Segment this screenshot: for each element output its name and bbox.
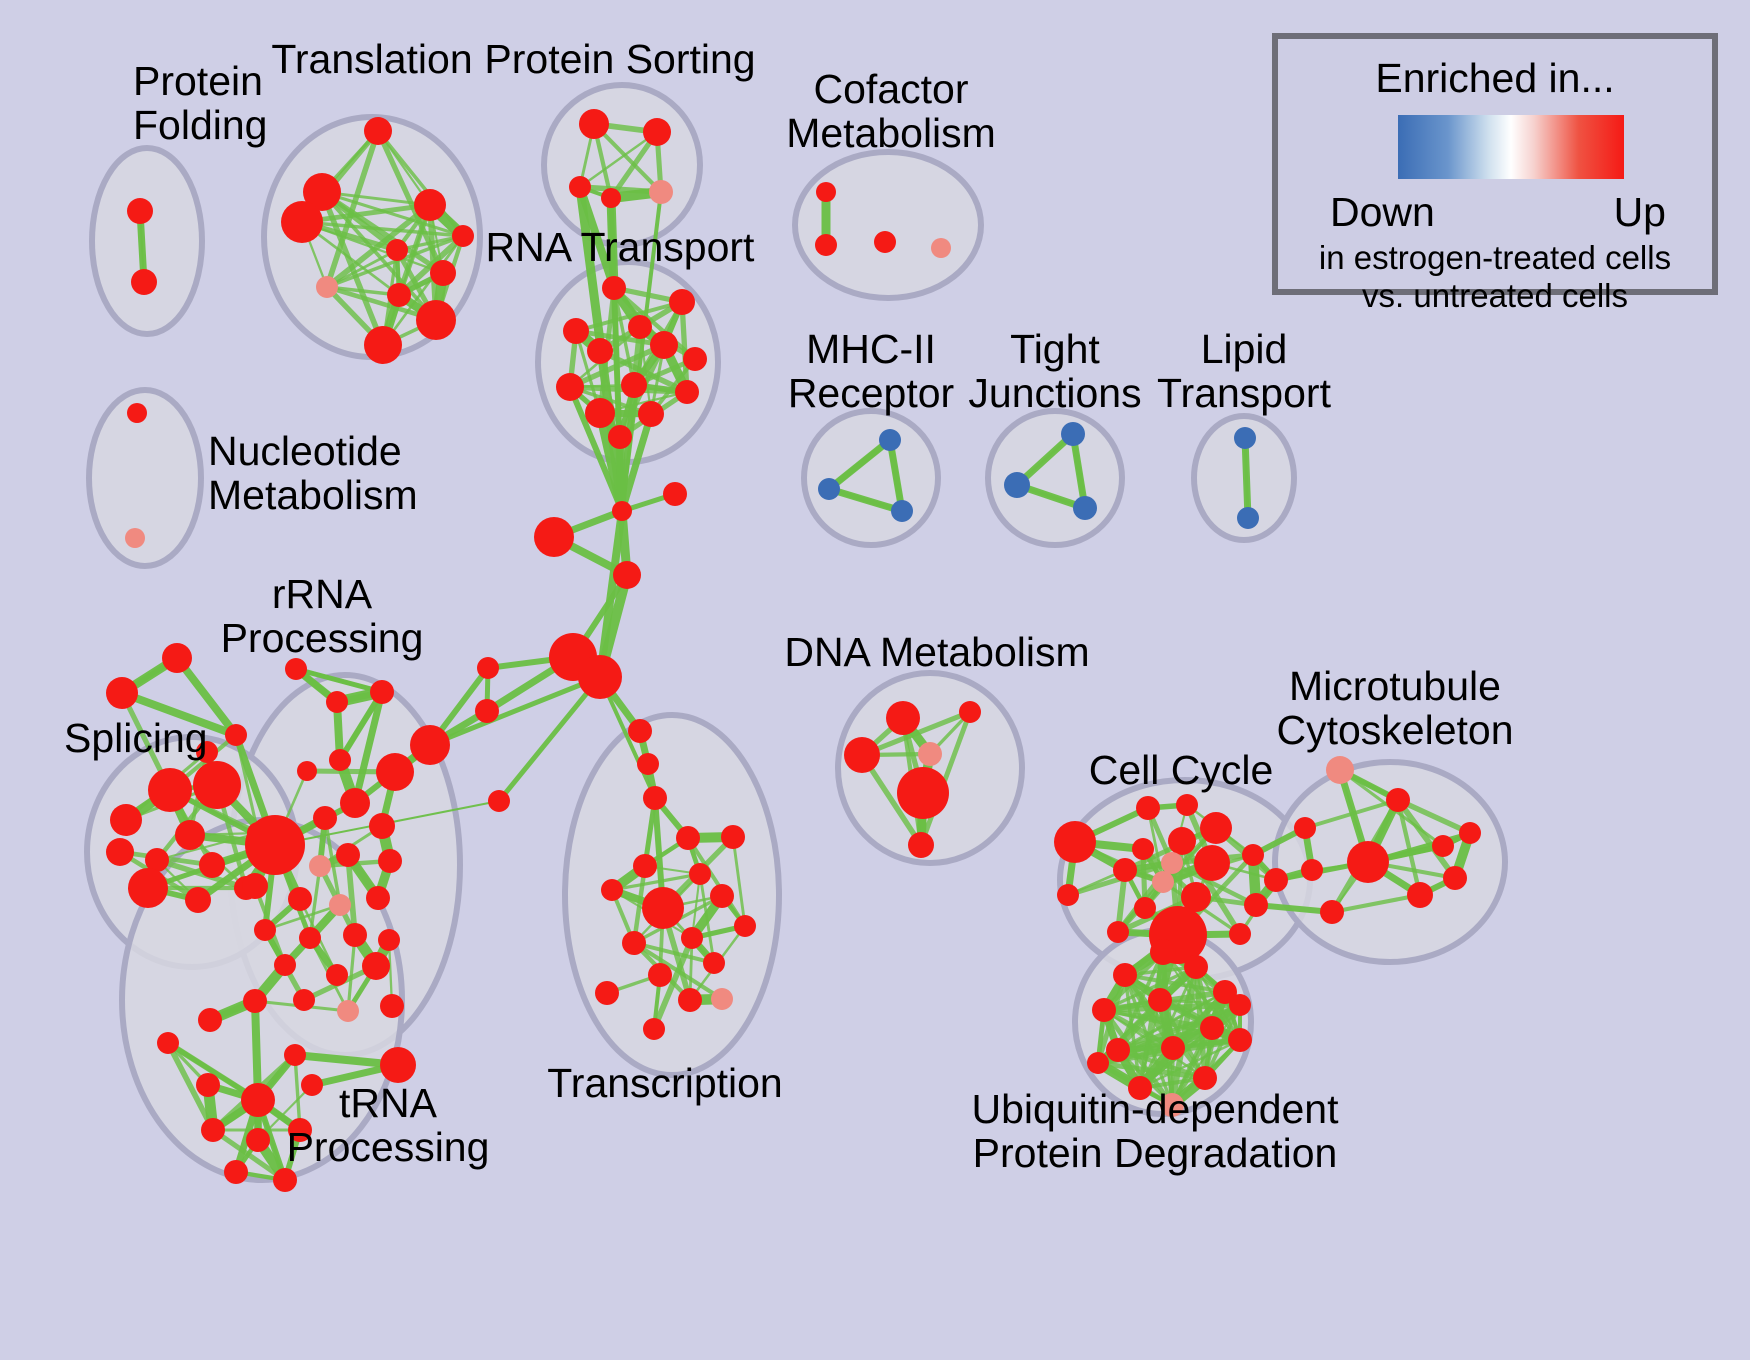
network-node [288,887,312,911]
network-node [273,1168,297,1192]
network-node [1150,939,1176,965]
network-node [1168,827,1196,855]
network-node [1113,963,1137,987]
network-node [343,923,367,947]
network-node [891,500,913,522]
network-node [193,761,241,809]
network-node [1134,897,1156,919]
network-figure: Protein FoldingTranslationProtein Sortin… [0,0,1750,1360]
network-node [1242,844,1264,866]
network-node [162,643,192,673]
network-node [1228,1028,1252,1052]
network-node [245,815,305,875]
network-node [225,724,247,746]
cluster-hull-mhc-ii-receptor [804,411,938,545]
network-node [734,915,756,937]
network-node [1301,859,1323,881]
network-node [364,326,402,364]
network-node [246,1128,270,1152]
network-node [1347,841,1389,883]
network-node [1161,852,1183,874]
network-node [1244,893,1268,917]
network-node [241,1083,275,1117]
network-node [602,276,626,300]
network-node [1386,788,1410,812]
network-node [1184,955,1208,979]
network-node [678,988,702,1012]
cluster-label-lipid-transport: Lipid Transport [1157,328,1331,416]
network-node [1087,1052,1109,1074]
network-node [148,768,192,812]
network-node [127,403,147,423]
network-node [131,269,157,295]
network-node [106,838,134,866]
network-node [569,176,591,198]
network-node [293,989,315,1011]
network-node [879,429,901,451]
network-node [886,701,920,735]
cluster-label-nucleotide-metabolism: Nucleotide Metabolism [208,430,418,518]
network-node [675,380,699,404]
legend-caption-line1: in estrogen-treated cells [1278,239,1712,277]
legend-caption-line2: vs. untreated cells [1278,277,1712,315]
network-node [556,373,584,401]
network-node [1106,1038,1130,1062]
network-node [380,994,404,1018]
network-node [378,929,400,951]
network-node [1073,496,1097,520]
network-node [628,315,652,339]
network-node [199,852,225,878]
network-node [683,347,707,371]
network-node [285,658,307,680]
network-node [721,825,745,849]
network-node [1407,882,1433,908]
network-node [336,843,360,867]
network-node [1264,868,1288,892]
network-node [329,894,351,916]
network-node [337,1000,359,1022]
network-node [488,790,510,812]
network-node [110,804,142,836]
network-node [1061,422,1085,446]
legend-high-label: Up [1614,189,1666,236]
network-node [380,1047,416,1083]
network-node [242,873,268,899]
network-node [316,276,338,298]
network-node [326,691,348,713]
network-node [313,806,337,830]
cluster-label-microtubule-cytoskeleton: Microtubule Cytoskeleton [1276,665,1513,753]
network-node [201,1118,225,1142]
network-node [587,338,613,364]
network-node [410,725,450,765]
network-node [378,849,402,873]
network-node [643,786,667,810]
network-node [326,964,348,986]
network-node [1459,822,1481,844]
network-node [595,981,619,1005]
network-node [1161,1036,1185,1060]
network-node [1294,817,1316,839]
network-node [1004,472,1030,498]
network-node [534,517,574,557]
network-node [370,680,394,704]
cluster-label-rna-transport: RNA Transport [486,226,755,270]
network-node [669,289,695,315]
network-node [637,753,659,775]
network-node [1113,858,1137,882]
network-node [376,753,414,791]
network-node [643,1018,665,1040]
network-node [638,401,664,427]
network-node [1092,998,1116,1022]
network-node [274,954,296,976]
network-node [362,952,390,980]
network-node [196,1073,220,1097]
network-node [1132,838,1154,860]
network-node [297,761,317,781]
network-node [601,879,623,901]
network-node [689,863,711,885]
network-node [299,927,321,949]
cluster-label-cell-cycle: Cell Cycle [1089,749,1274,793]
network-node [1237,507,1259,529]
network-node [931,238,951,258]
network-node [281,201,323,243]
network-node [676,826,700,850]
network-node [649,180,673,204]
network-node [844,737,880,773]
cluster-label-transcription: Transcription [547,1062,782,1106]
network-node [818,478,840,500]
network-node [1200,812,1232,844]
cluster-label-rrna-processing: rRNA Processing [221,573,424,661]
network-node [243,989,267,1013]
network-node [703,952,725,974]
network-node [585,398,615,428]
network-node [612,501,632,521]
cluster-hull-protein-sorting [544,85,700,245]
network-node [643,118,671,146]
network-node [198,1008,222,1032]
network-node [816,182,836,202]
network-node [1234,427,1256,449]
network-node [452,225,474,247]
network-node [650,331,678,359]
cluster-label-tight-junctions: Tight Junctions [968,328,1141,416]
network-node [284,1044,306,1066]
network-node [874,231,896,253]
network-node [1229,994,1251,1016]
network-edge [1245,438,1248,518]
network-node [1443,866,1467,890]
legend-colorbar [1398,115,1624,179]
network-node [254,919,276,941]
network-node [578,655,622,699]
network-node [608,425,632,449]
cluster-label-trna-processing: tRNA Processing [287,1082,490,1170]
cluster-label-dna-metabolism: DNA Metabolism [784,631,1089,675]
network-node [711,988,733,1010]
network-node [579,109,609,139]
network-node [601,188,621,208]
network-node [897,767,949,819]
network-node [366,886,390,910]
network-node [157,1032,179,1054]
network-node [309,855,331,877]
legend-low-label: Down [1330,189,1435,236]
network-node [1054,821,1096,863]
network-node [125,528,145,548]
network-node [224,1160,248,1184]
cluster-hull-protein-folding [92,148,202,334]
network-node [386,239,408,261]
network-node [477,657,499,679]
network-node [628,719,652,743]
network-node [1148,988,1172,1012]
network-node [1107,921,1129,943]
network-node [908,832,934,858]
legend-box: Enriched in... Down Up in estrogen-treat… [1272,33,1718,295]
network-node [663,482,687,506]
cluster-label-mhc-ii-receptor: MHC-II Receptor [788,328,954,416]
network-node [185,887,211,913]
network-node [475,699,499,723]
network-node [1432,835,1454,857]
network-node [387,283,411,307]
network-node [369,813,395,839]
cluster-label-protein-sorting: Protein Sorting [484,38,755,82]
network-node [416,300,456,340]
network-node [364,117,392,145]
network-node [414,189,446,221]
network-node [1320,900,1344,924]
network-node [681,927,703,949]
network-node [633,854,657,878]
network-node [918,742,942,766]
cluster-label-translation: Translation [271,38,472,82]
cluster-label-ubiquitin-degradation: Ubiquitin-dependent Protein Degradation [972,1088,1339,1176]
network-node [175,820,205,850]
cluster-label-cofactor-metabolism: Cofactor Metabolism [786,68,996,156]
network-node [1176,794,1198,816]
network-node [106,677,138,709]
network-node [563,318,589,344]
network-node [1152,871,1174,893]
network-node [1057,884,1079,906]
network-node [430,260,456,286]
network-node [642,887,684,929]
cluster-label-protein-folding: Protein Folding [133,60,267,148]
network-node [1229,923,1251,945]
network-node [621,372,647,398]
network-node [127,198,153,224]
network-node [710,884,734,908]
cluster-label-splicing: Splicing [64,717,208,761]
network-node [815,234,837,256]
network-node [648,963,672,987]
network-node [1326,756,1354,784]
network-node [959,701,981,723]
network-node [622,931,646,955]
network-node [340,788,370,818]
network-node [1200,1016,1224,1040]
legend-title: Enriched in... [1278,55,1712,102]
network-node [613,561,641,589]
network-node [1194,845,1230,881]
network-node [1136,796,1160,820]
network-node [128,868,168,908]
network-node [329,749,351,771]
